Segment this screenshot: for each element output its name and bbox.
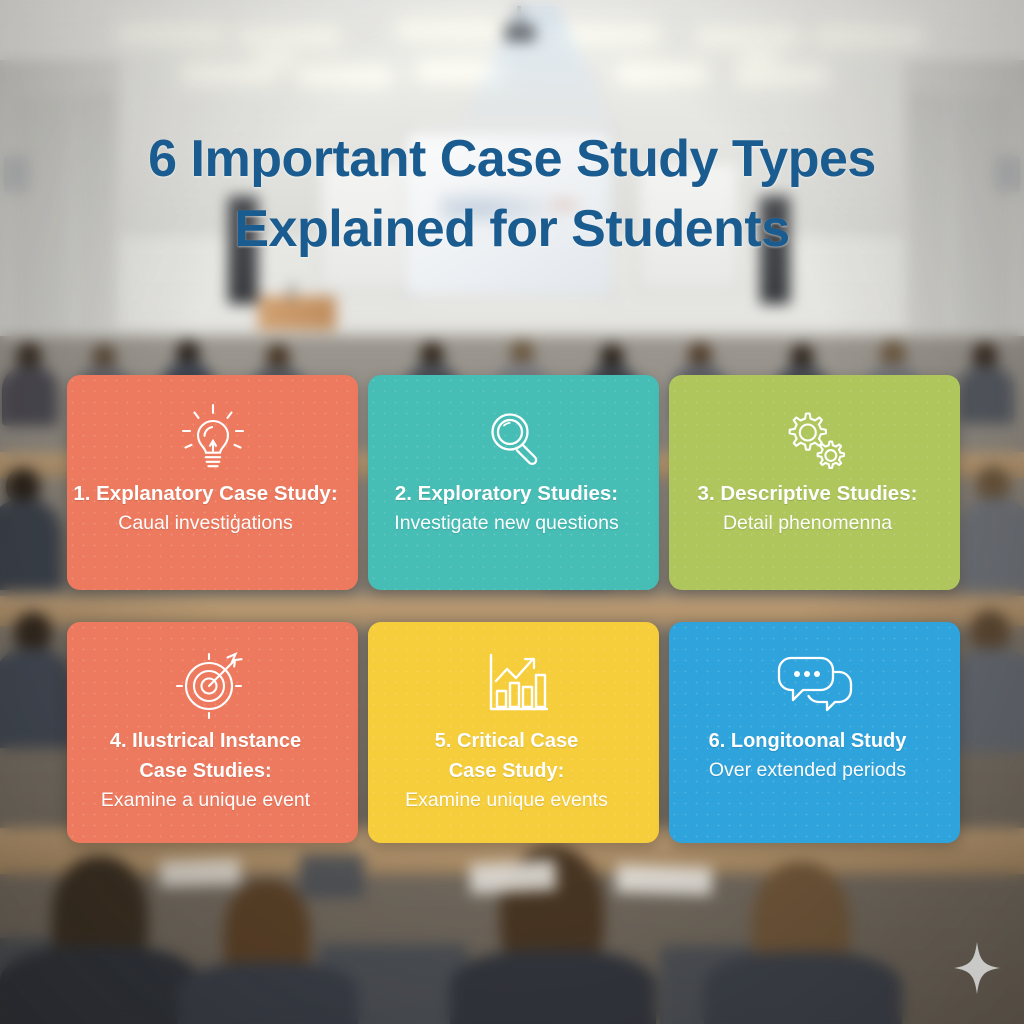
card-text: 2. Exploratory Studies: Investigate new … (347, 481, 667, 537)
card-longitudinal-study[interactable]: 6. Longitoonal Study Over extended perio… (669, 622, 960, 843)
card-descriptive-studies[interactable]: 3. Descriptive Studies: Detail phenomenn… (669, 375, 960, 590)
card-subtitle: Examine unique events (347, 787, 667, 814)
card-subtitle: Caual investiģations (46, 510, 366, 537)
card-heading: 2. Exploratory Studies: (347, 481, 667, 507)
card-subtitle: Over extended periods (648, 757, 968, 784)
card-text: 6. Longitoonal Study Over extended perio… (648, 726, 968, 784)
card-subtitle: Investigate new questions (347, 510, 667, 537)
cards-row-bottom: 4. Ilustrical Instance Case Studies: Exa… (67, 622, 962, 843)
card-heading: 1. Explanatory Case Study: (46, 481, 366, 507)
gears-icon (776, 397, 854, 481)
card-critical-case-study[interactable]: 5. Critical Case Case Study: Examine uni… (368, 622, 659, 843)
card-text: 5. Critical Case Case Study: Examine uni… (347, 726, 667, 814)
card-explanatory-case-study[interactable]: 1. Explanatory Case Study: Caual investi… (67, 375, 358, 590)
speech-bubbles-icon (773, 642, 857, 726)
lightbulb-icon (177, 397, 249, 481)
card-text: 1. Explanatory Case Study: Caual investi… (46, 481, 366, 537)
card-exploratory-studies[interactable]: 2. Exploratory Studies: Investigate new … (368, 375, 659, 590)
title-line-1: 6 Important Case Study Types (0, 124, 1024, 194)
sparkle-icon (954, 942, 1000, 994)
card-text: 4. Ilustrical Instance Case Studies: Exa… (46, 726, 366, 814)
card-heading: 5. Critical Case (347, 726, 667, 756)
bar-chart-icon (475, 642, 553, 726)
magnifier-icon (478, 397, 550, 481)
card-illustrative-instance-case-studies[interactable]: 4. Ilustrical Instance Case Studies: Exa… (67, 622, 358, 843)
card-heading: 6. Longitoonal Study (648, 726, 968, 756)
card-text: 3. Descriptive Studies: Detail phenomenn… (648, 481, 968, 537)
card-heading-line2: Case Study: (347, 756, 667, 786)
cards-row-top: 1. Explanatory Case Study: Caual investi… (67, 375, 962, 590)
card-subtitle: Examine a unique event (46, 787, 366, 814)
title-line-2: Explained for Students (0, 194, 1024, 264)
target-icon (173, 642, 253, 726)
card-subtitle: Detail phenomenna (648, 510, 968, 537)
case-study-cards-grid: 1. Explanatory Case Study: Caual investi… (67, 375, 962, 843)
card-heading: 3. Descriptive Studies: (648, 481, 968, 507)
page-title: 6 Important Case Study Types Explained f… (0, 124, 1024, 264)
card-heading-line2: Case Studies: (46, 756, 366, 786)
card-heading: 4. Ilustrical Instance (46, 726, 366, 756)
